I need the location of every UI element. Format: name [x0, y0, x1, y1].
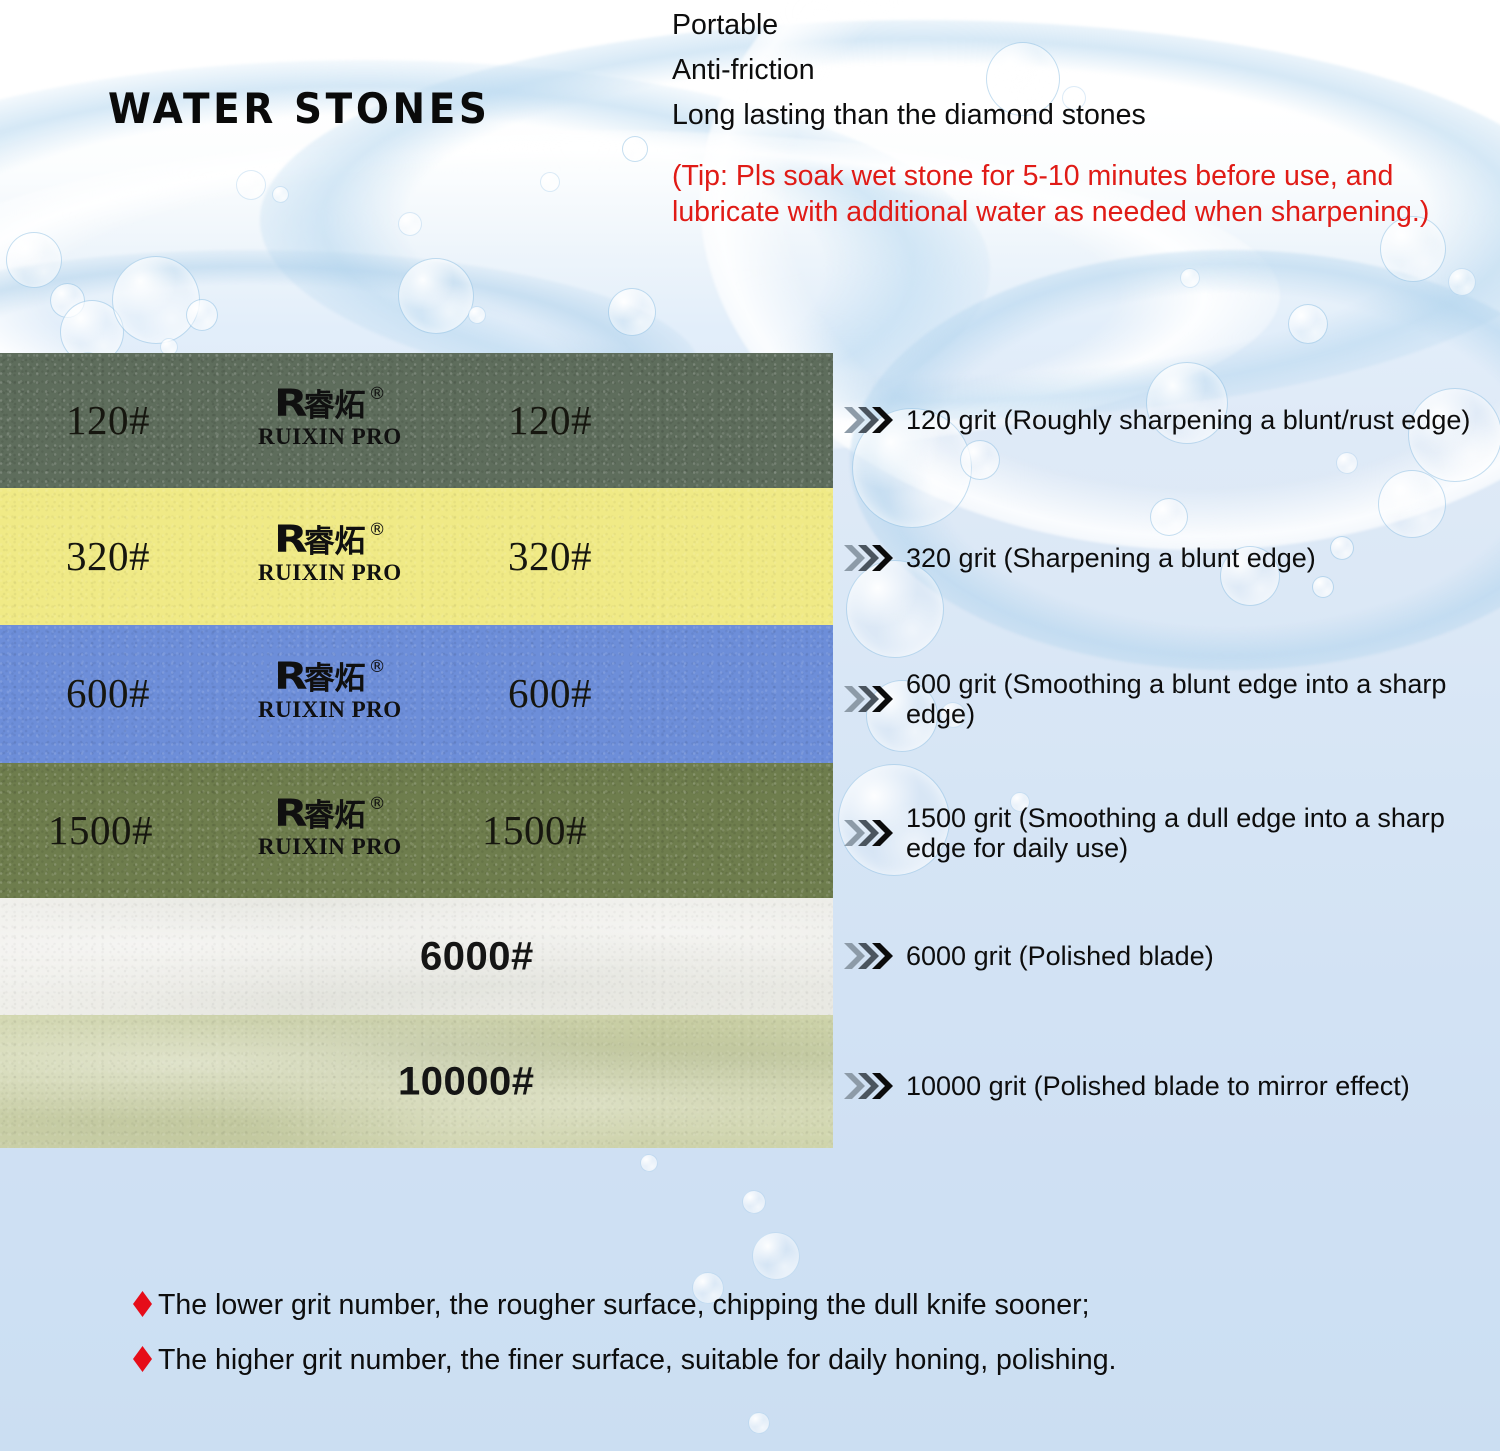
- stone-grit-label: 10000#: [398, 1059, 534, 1104]
- bubble: [622, 136, 648, 162]
- brand-name: RUIXIN PRO: [258, 698, 402, 721]
- bubble: [1180, 268, 1200, 288]
- brand-r-icon: R: [274, 524, 304, 555]
- brand-name: RUIXIN PRO: [258, 561, 402, 584]
- brand-logo-top: R 睿炻 ®: [258, 798, 402, 832]
- grit-row-6000: 6000 grit (Polished blade): [843, 939, 1493, 973]
- page-title: WATER STONES: [108, 84, 491, 133]
- triple-chevron-icon: [843, 682, 897, 716]
- bubble: [752, 1232, 800, 1280]
- stone-block-1500: 1500# R 睿炻 ® RUIXIN PRO 1500#: [0, 763, 833, 898]
- bubble: [186, 299, 218, 331]
- brand-chinese-name: 睿炻: [304, 801, 366, 832]
- feature-item: Portable: [672, 3, 1482, 48]
- red-diamond-icon: [133, 1291, 152, 1317]
- brand-logo: R 睿炻 ® RUIXIN PRO: [258, 388, 402, 448]
- stone-grit-label-right: 1500#: [482, 806, 587, 854]
- bubble: [640, 1154, 658, 1172]
- stone-block-120: 120# R 睿炻 ® RUIXIN PRO 120#: [0, 353, 833, 488]
- bullet-notes: The lower grit number, the rougher surfa…: [133, 1288, 1433, 1398]
- feature-item: Anti-friction: [672, 48, 1482, 93]
- triple-chevron-icon: [843, 541, 897, 575]
- bubble: [540, 172, 560, 192]
- bubble: [1288, 304, 1328, 344]
- bubble: [398, 258, 474, 334]
- bubble: [50, 283, 85, 318]
- grit-description: 320 grit (Sharpening a blunt edge): [906, 543, 1316, 573]
- stone-grit-label-left: 1500#: [48, 806, 153, 854]
- bullet-item: The higher grit number, the finer surfac…: [133, 1343, 1433, 1376]
- brand-logo: R 睿炻 ® RUIXIN PRO: [258, 524, 402, 584]
- stone-grit-label: 6000#: [420, 934, 534, 979]
- brand-r-icon: R: [274, 798, 304, 829]
- stone-block-6000: 6000#: [0, 898, 833, 1015]
- registered-trademark-icon: ®: [369, 386, 386, 403]
- grit-description: 120 grit (Roughly sharpening a blunt/rus…: [906, 405, 1470, 435]
- stone-grit-label-left: 120#: [66, 396, 150, 444]
- bubble: [608, 288, 656, 336]
- grit-description: 6000 grit (Polished blade): [906, 941, 1214, 971]
- bubble: [112, 256, 200, 344]
- brand-logo: R 睿炻 ® RUIXIN PRO: [258, 798, 402, 858]
- bubble: [272, 186, 289, 203]
- stone-grit-label-right: 120#: [508, 396, 592, 444]
- grit-row-1500: 1500 grit (Smoothing a dull edge into a …: [843, 803, 1493, 863]
- brand-chinese-name: 睿炻: [304, 527, 366, 558]
- stone-block-600: 600# R 睿炻 ® RUIXIN PRO 600#: [0, 625, 833, 763]
- stone-stack-photo: 120# R 睿炻 ® RUIXIN PRO 120# 320# R 睿炻 ®: [0, 353, 833, 1148]
- brand-logo-top: R 睿炻 ®: [258, 388, 402, 422]
- registered-trademark-icon: ®: [369, 522, 386, 539]
- stone-grit-label-right: 320#: [508, 532, 592, 580]
- brand-name: RUIXIN PRO: [258, 425, 402, 448]
- grit-row-120: 120 grit (Roughly sharpening a blunt/rus…: [843, 403, 1493, 437]
- brand-logo-top: R 睿炻 ®: [258, 661, 402, 695]
- usage-tip: (Tip: Pls soak wet stone for 5-10 minute…: [672, 158, 1492, 230]
- stone-grit-label-left: 320#: [66, 532, 150, 580]
- bubble: [1448, 268, 1476, 296]
- bubble: [748, 1412, 770, 1434]
- grit-description: 600 grit (Smoothing a blunt edge into a …: [906, 669, 1476, 729]
- triple-chevron-icon: [843, 403, 897, 437]
- stone-grit-label-left: 600#: [66, 669, 150, 717]
- bubble: [6, 232, 62, 288]
- grit-row-600: 600 grit (Smoothing a blunt edge into a …: [843, 669, 1493, 729]
- brand-logo: R 睿炻 ® RUIXIN PRO: [258, 661, 402, 721]
- stone-block-320: 320# R 睿炻 ® RUIXIN PRO 320#: [0, 488, 833, 625]
- stone-block-10000: 10000#: [0, 1015, 833, 1148]
- stone-grain-texture: [0, 898, 833, 1015]
- brand-name: RUIXIN PRO: [258, 835, 402, 858]
- triple-chevron-icon: [843, 939, 897, 973]
- grit-description: 10000 grit (Polished blade to mirror eff…: [906, 1071, 1410, 1101]
- bubble: [398, 212, 422, 236]
- grit-row-320: 320 grit (Sharpening a blunt edge): [843, 541, 1493, 575]
- triple-chevron-icon: [843, 1069, 897, 1103]
- bullet-item: The lower grit number, the rougher surfa…: [133, 1288, 1433, 1321]
- bubble: [468, 306, 486, 324]
- bullet-text: The lower grit number, the rougher surfa…: [158, 1289, 1090, 1321]
- brand-chinese-name: 睿炻: [304, 664, 366, 695]
- brand-r-icon: R: [274, 661, 304, 692]
- grit-description: 1500 grit (Smoothing a dull edge into a …: [906, 803, 1476, 863]
- brand-r-icon: R: [274, 388, 304, 419]
- feature-list: Portable Anti-friction Long lasting than…: [672, 3, 1482, 138]
- triple-chevron-icon: [843, 816, 897, 850]
- registered-trademark-icon: ®: [369, 659, 386, 676]
- infographic-page: WATER STONES Portable Anti-friction Long…: [0, 0, 1500, 1451]
- bubble: [236, 170, 266, 200]
- brand-chinese-name: 睿炻: [304, 391, 366, 422]
- grit-description-list: 120 grit (Roughly sharpening a blunt/rus…: [843, 353, 1493, 1148]
- feature-item: Long lasting than the diamond stones: [672, 93, 1482, 138]
- brand-logo-top: R 睿炻 ®: [258, 524, 402, 558]
- stone-grit-label-right: 600#: [508, 669, 592, 717]
- bubble: [742, 1190, 766, 1214]
- grit-row-10000: 10000 grit (Polished blade to mirror eff…: [843, 1069, 1493, 1103]
- bullet-text: The higher grit number, the finer surfac…: [158, 1344, 1116, 1376]
- red-diamond-icon: [133, 1346, 152, 1372]
- registered-trademark-icon: ®: [369, 796, 386, 813]
